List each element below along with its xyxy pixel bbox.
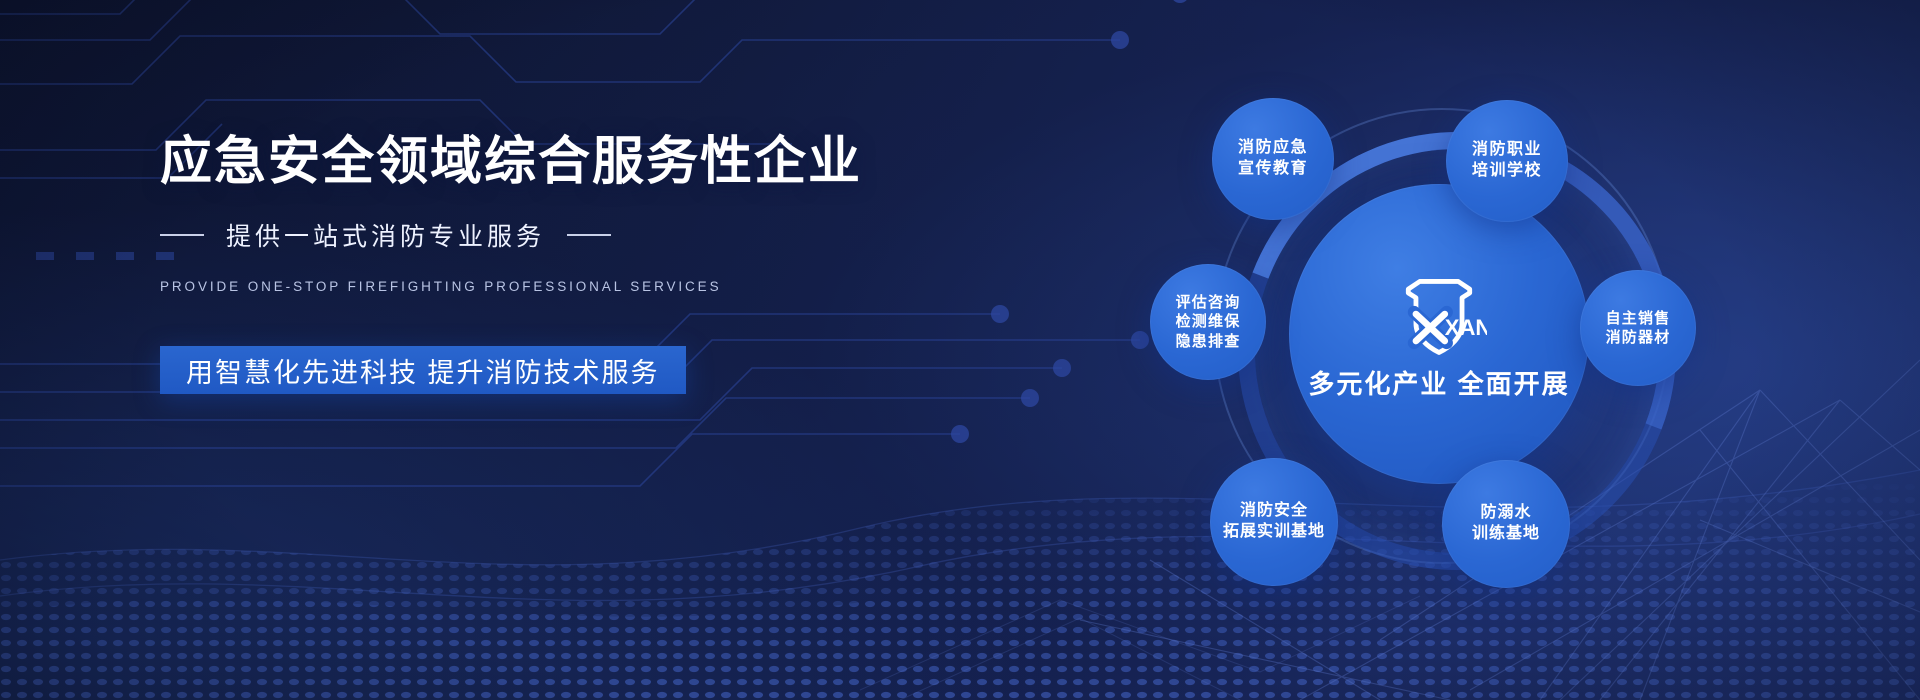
- service-bubble-safety-training-base[interactable]: 消防安全 拓展实训基地: [1210, 458, 1338, 586]
- hero-english-subtitle: PROVIDE ONE-STOP FIREFIGHTING PROFESSION…: [160, 253, 920, 294]
- bubble-line2: 宣传教育: [1238, 159, 1308, 180]
- bubble-line1: 自主销售: [1606, 309, 1671, 329]
- dash-left-decoration: [160, 234, 204, 236]
- diagram-hub[interactable]: XAN 多元化产业 全面开展: [1289, 184, 1589, 484]
- cta-button[interactable]: 用智慧化先进科技 提升消防技术服务: [160, 346, 686, 394]
- svg-text:XAN: XAN: [1445, 315, 1487, 340]
- bubble-line2: 检测维保: [1176, 312, 1241, 332]
- hub-label-line1: 多元化产业: [1308, 369, 1448, 399]
- service-bubble-drowning-prevention-base[interactable]: 防溺水 训练基地: [1442, 460, 1570, 588]
- shield-logo-icon: XAN: [1391, 268, 1487, 364]
- hero-subtitle-text: 提供一站式消防专业服务: [226, 217, 545, 253]
- hub-label: 多元化产业 全面开展: [1308, 368, 1569, 400]
- bubble-line3: 隐患排查: [1176, 332, 1241, 352]
- bubble-line2: 拓展实训基地: [1223, 522, 1325, 543]
- bubble-line1: 防溺水: [1480, 503, 1531, 524]
- page-title: 应急安全领域综合服务性企业: [160, 133, 920, 191]
- bubble-line2: 消防器材: [1606, 328, 1671, 348]
- service-bubble-vocational-training-school[interactable]: 消防职业 培训学校: [1446, 100, 1568, 222]
- service-circle-diagram: XAN 多元化产业 全面开展 消防应急 宣传教育 消防职业 培训学校 评估咨询 …: [1160, 78, 1780, 623]
- hero-copy: 应急安全领域综合服务性企业 提供一站式消防专业服务 PROVIDE ONE-ST…: [160, 133, 920, 394]
- bubble-line2: 训练基地: [1472, 524, 1540, 545]
- service-bubble-fire-emergency-education[interactable]: 消防应急 宣传教育: [1212, 98, 1334, 220]
- bubble-line1: 消防应急: [1238, 138, 1308, 159]
- hub-label-line2: 全面开展: [1458, 369, 1570, 399]
- hero-subtitle: 提供一站式消防专业服务: [160, 191, 920, 253]
- hero-banner: 应急安全领域综合服务性企业 提供一站式消防专业服务 PROVIDE ONE-ST…: [0, 0, 1920, 700]
- bubble-line1: 消防职业: [1472, 140, 1542, 161]
- dash-right-decoration: [567, 234, 611, 236]
- service-bubble-assessment-inspection[interactable]: 评估咨询 检测维保 隐患排查: [1150, 264, 1266, 380]
- bubble-line2: 培训学校: [1472, 161, 1542, 182]
- bubble-line1: 评估咨询: [1176, 293, 1241, 313]
- service-bubble-equipment-sales[interactable]: 自主销售 消防器材: [1580, 270, 1696, 386]
- bubble-line1: 消防安全: [1240, 501, 1308, 522]
